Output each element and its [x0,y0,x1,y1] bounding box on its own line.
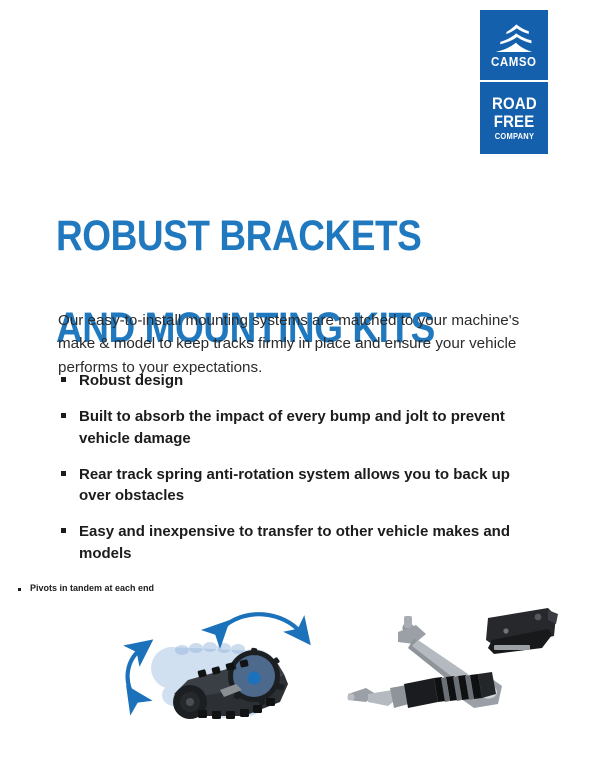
rubber-track-system-illustration [112,598,327,730]
vertical-pivot-arrow [128,648,142,697]
horizontal-pivot-arrow [220,614,302,634]
mounting-hardware-photo [342,598,570,730]
road-free-line-2: FREE [494,113,535,130]
list-item: Built to absorb the impact of every bump… [58,406,518,449]
road-free-line-3: COMPANY [494,132,534,141]
figure-row [0,598,600,733]
page-title-line-1: ROBUST BRACKETS [56,214,435,260]
footnote-caption: Pivots in tandem at each end [18,583,154,595]
intro-paragraph: Our easy-to-install mounting systems are… [58,309,528,379]
camso-mountain-icon [495,23,533,53]
list-item: Rear track spring anti-rotation system a… [58,464,518,507]
list-item: Easy and inexpensive to transfer to othe… [58,521,518,564]
camso-logo-box: CAMSO [480,10,548,80]
road-free-line-1: ROAD [492,95,537,112]
feature-list: Robust design Built to absorb the impact… [58,370,518,579]
camso-wordmark: CAMSO [491,56,537,69]
road-free-company-logo-box: ROAD FREE COMPANY [480,82,548,154]
mounting-bracket-part [486,608,558,654]
brand-logo-stack: CAMSO ROAD FREE COMPANY [480,10,548,154]
list-item: Robust design [58,370,518,391]
